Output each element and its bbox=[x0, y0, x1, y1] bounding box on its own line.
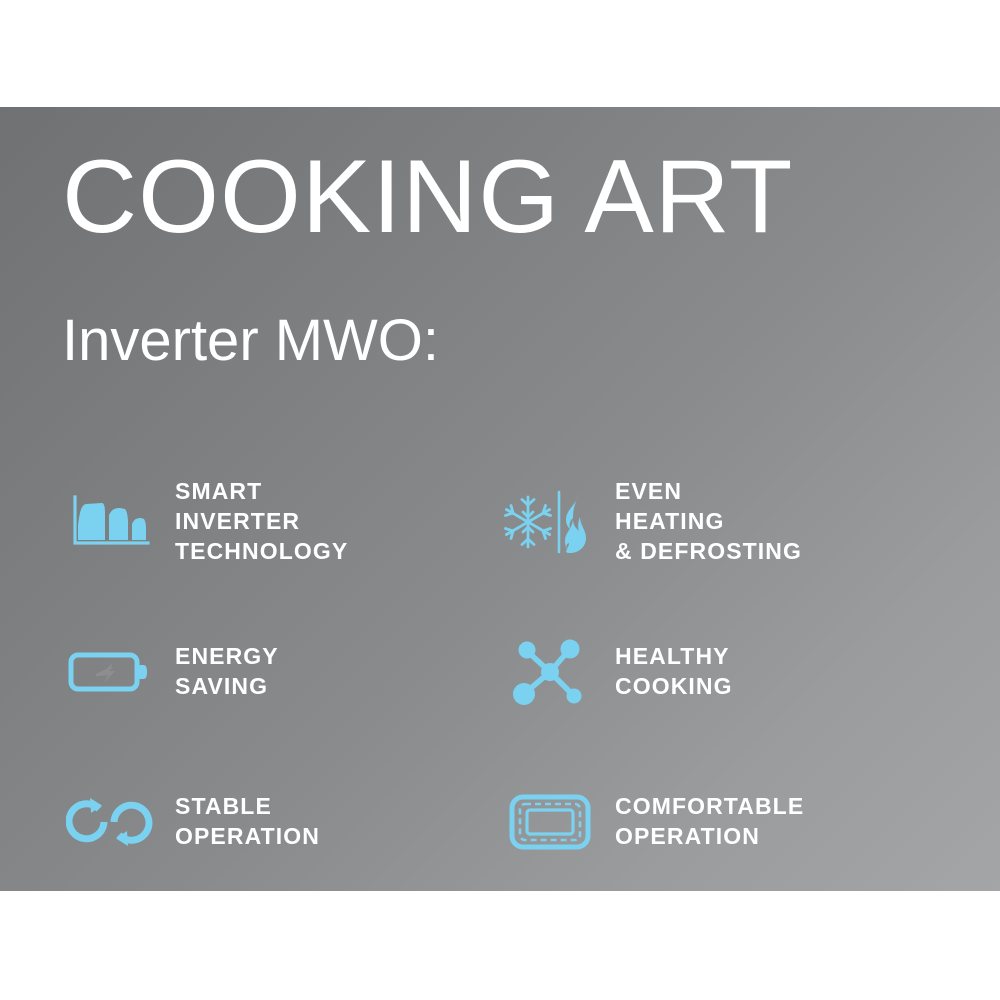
control-panel-icon bbox=[485, 779, 615, 865]
feature-label: HEALTHY COOKING bbox=[615, 642, 733, 702]
inverter-power-curve-icon bbox=[45, 479, 175, 565]
feature-comfortable-operation: COMFORTABLE OPERATION bbox=[485, 747, 915, 891]
battery-bolt-icon bbox=[45, 629, 175, 715]
feature-label: SMART INVERTER TECHNOLOGY bbox=[175, 477, 348, 567]
feature-label: EVEN HEATING & DEFROSTING bbox=[615, 477, 802, 567]
feature-label: ENERGY SAVING bbox=[175, 642, 279, 702]
page-subtitle: Inverter MWO: bbox=[62, 312, 439, 370]
feature-label: COMFORTABLE OPERATION bbox=[615, 792, 804, 852]
feature-energy-saving: ENERGY SAVING bbox=[45, 597, 475, 747]
page-title: COOKING ART bbox=[62, 145, 793, 249]
feature-stable-operation: STABLE OPERATION bbox=[45, 747, 475, 891]
feature-label: STABLE OPERATION bbox=[175, 792, 320, 852]
recycle-loop-icon bbox=[45, 779, 175, 865]
molecule-icon bbox=[485, 629, 615, 715]
feature-even-heating-defrosting: EVEN HEATING & DEFROSTING bbox=[485, 447, 915, 597]
feature-smart-inverter-technology: SMART INVERTER TECHNOLOGY bbox=[45, 447, 475, 597]
page-canvas: COOKING ART Inverter MWO: SMART INVERTER… bbox=[0, 0, 1000, 1000]
feature-healthy-cooking: HEALTHY COOKING bbox=[485, 597, 915, 747]
promo-banner: COOKING ART Inverter MWO: SMART INVERTER… bbox=[0, 107, 1000, 891]
snowflake-flame-icon bbox=[485, 479, 615, 565]
feature-grid: SMART INVERTER TECHNOLOGY bbox=[45, 447, 945, 891]
